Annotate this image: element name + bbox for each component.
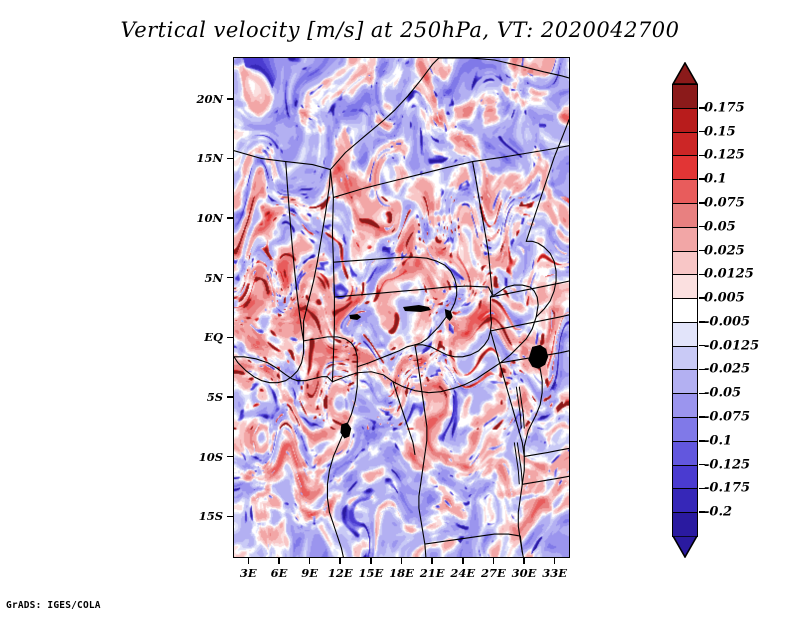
colorbar-cell — [672, 108, 698, 133]
y-axis-tick-label: 5S — [207, 390, 223, 404]
footer-credit: GrADS: IGES/COLA — [6, 600, 101, 611]
colorbar-tick-mark — [699, 369, 705, 371]
colorbar-tick-mark — [699, 131, 705, 133]
x-axis-tick-label: 27E — [481, 566, 506, 580]
x-axis-tick-mark — [462, 558, 464, 564]
x-axis-tick-label: 24E — [450, 566, 475, 580]
colorbar-tick-mark — [699, 178, 705, 180]
colorbar-cell — [672, 251, 698, 276]
x-axis-tick-mark — [431, 558, 433, 564]
colorbar-cell — [672, 298, 698, 323]
colorbar-tick-mark — [699, 488, 705, 490]
colorbar-tick-label: 0.125 — [704, 148, 745, 163]
colorbar-tick-label: 0.0125 — [704, 267, 754, 282]
x-axis-tick-mark — [523, 558, 525, 564]
x-axis-tick-label: 30E — [512, 566, 537, 580]
colorbar-cell — [672, 132, 698, 157]
x-axis-tick-mark — [493, 558, 495, 564]
colorbar-cell — [672, 322, 698, 347]
colorbar-tick-label: -0.2 — [704, 505, 732, 520]
y-axis-tick-label: EQ — [204, 330, 223, 344]
colorbar-tick-label: 0.075 — [704, 195, 745, 210]
colorbar-tick-label: 0.025 — [704, 243, 745, 258]
colorbar-cell — [672, 441, 698, 466]
colorbar-tick-mark — [699, 321, 705, 323]
colorbar-tick-mark — [699, 107, 705, 109]
colorbar-tick-label: 0.005 — [704, 291, 745, 306]
colorbar-cell — [672, 84, 698, 109]
x-axis-tick-mark — [370, 558, 372, 564]
colorbar-tick-mark — [699, 416, 705, 418]
x-axis-tick-mark — [309, 558, 311, 564]
colorbar-tick-label: -0.1 — [704, 433, 732, 448]
colorbar-tick-label: -0.05 — [704, 386, 741, 401]
y-axis-tick-mark — [227, 277, 233, 279]
colorbar-tick-label: 0.175 — [704, 100, 745, 115]
colorbar-tick-mark — [699, 297, 705, 299]
x-axis-tick-label: 15E — [358, 566, 383, 580]
colorbar-tick-mark — [699, 511, 705, 513]
x-axis-tick-label: 18E — [389, 566, 414, 580]
plot-page: Vertical velocity [m/s] at 250hPa, VT: 2… — [0, 0, 800, 618]
y-axis-tick-label: 15S — [199, 509, 223, 523]
colorbar-tick-mark — [699, 250, 705, 252]
colorbar-tick-label: 0.15 — [704, 124, 736, 139]
x-axis-tick-label: 6E — [271, 566, 288, 580]
colorbar-cell — [672, 369, 698, 394]
colorbar-tick-label: -0.125 — [704, 457, 750, 472]
colorbar-tick-label: -0.025 — [704, 362, 750, 377]
colorbar-cell — [672, 488, 698, 513]
colorbar-tick-label: 0.05 — [704, 219, 736, 234]
map-plot-area — [233, 57, 570, 558]
colorbar-tick-mark — [699, 155, 705, 157]
y-axis-tick-mark — [227, 456, 233, 458]
colorbar-cell — [672, 155, 698, 180]
colorbar-top-arrow — [672, 62, 698, 84]
x-axis-tick-label: 12E — [328, 566, 353, 580]
colorbar-cell — [672, 393, 698, 418]
colorbar — [672, 62, 698, 558]
y-axis-tick-mark — [227, 516, 233, 518]
x-axis-tick-mark — [278, 558, 280, 564]
colorbar-cell — [672, 417, 698, 442]
colorbar-cell — [672, 274, 698, 299]
y-axis-tick-mark — [227, 217, 233, 219]
y-axis-tick-mark — [227, 98, 233, 100]
y-axis-tick-label: 20N — [196, 92, 223, 106]
y-axis-tick-label: 15N — [196, 151, 223, 165]
page-title: Vertical velocity [m/s] at 250hPa, VT: 2… — [0, 18, 800, 42]
y-axis-tick-label: 5N — [204, 271, 223, 285]
x-axis-tick-label: 21E — [420, 566, 445, 580]
x-axis-tick-mark — [248, 558, 250, 564]
colorbar-tick-label: -0.0125 — [704, 338, 759, 353]
y-axis-tick-label: 10S — [199, 450, 223, 464]
colorbar-cell — [672, 346, 698, 371]
y-axis-tick-mark — [227, 337, 233, 339]
colorbar-tick-label: -0.075 — [704, 410, 750, 425]
x-axis-tick-label: 33E — [542, 566, 567, 580]
colorbar-bottom-arrow — [672, 536, 698, 558]
colorbar-tick-label: -0.005 — [704, 314, 750, 329]
colorbar-cell — [672, 512, 698, 537]
colorbar-tick-label: 0.1 — [704, 172, 727, 187]
colorbar-cell — [672, 203, 698, 228]
x-axis-tick-label: 3E — [240, 566, 257, 580]
colorbar-tick-mark — [699, 345, 705, 347]
country-borders-overlay — [234, 58, 569, 557]
colorbar-tick-label: -0.175 — [704, 481, 750, 496]
x-axis-tick-mark — [554, 558, 556, 564]
colorbar-cell — [672, 465, 698, 490]
colorbar-tick-mark — [699, 274, 705, 276]
y-axis-tick-mark — [227, 158, 233, 160]
x-axis-tick-mark — [339, 558, 341, 564]
colorbar-cell — [672, 179, 698, 204]
colorbar-tick-mark — [699, 226, 705, 228]
y-axis-tick-label: 10N — [196, 211, 223, 225]
colorbar-tick-mark — [699, 202, 705, 204]
colorbar-cell — [672, 227, 698, 252]
y-axis-tick-mark — [227, 396, 233, 398]
colorbar-tick-mark — [699, 393, 705, 395]
colorbar-tick-mark — [699, 440, 705, 442]
colorbar-tick-mark — [699, 464, 705, 466]
x-axis-tick-label: 9E — [301, 566, 318, 580]
x-axis-tick-mark — [401, 558, 403, 564]
